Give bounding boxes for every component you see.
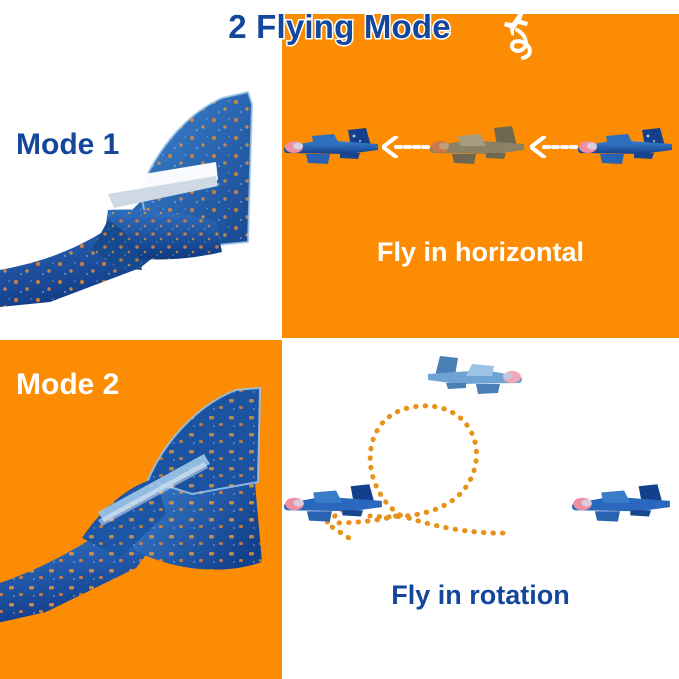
header-banner: 2 Flying Mode — [0, 0, 679, 62]
arrow-horizontal-right — [530, 136, 578, 158]
plane-rotation-top — [422, 354, 526, 405]
product-infographic: Mode 1 — [0, 0, 679, 679]
plane-horizontal-left — [282, 126, 382, 175]
plane-horizontal-right — [576, 126, 676, 175]
caption-fly-in-horizontal: Fly in horizontal — [282, 237, 679, 268]
panel-fly-rotation: Fly in rotation — [282, 340, 679, 679]
mode-1-label: Mode 1 — [16, 128, 119, 162]
page-title: 2 Flying Mode — [0, 8, 679, 46]
panel-mode-1: Mode 1 — [0, 62, 282, 338]
mode-2-label: Mode 2 — [16, 368, 119, 402]
glider-photo-mode-2 — [0, 362, 282, 652]
glider-photo-mode-1 — [0, 62, 282, 338]
airplane-loop-icon — [487, 4, 543, 60]
caption-fly-in-rotation: Fly in rotation — [282, 580, 679, 611]
panel-mode-2: Mode 2 — [0, 340, 282, 679]
plane-horizontal-middle — [428, 124, 528, 175]
arrow-horizontal-left — [382, 136, 430, 158]
plane-rotation-left — [282, 482, 386, 533]
panel-fly-horizontal: Fly in horizontal — [282, 62, 679, 338]
plane-rotation-right — [570, 482, 674, 533]
